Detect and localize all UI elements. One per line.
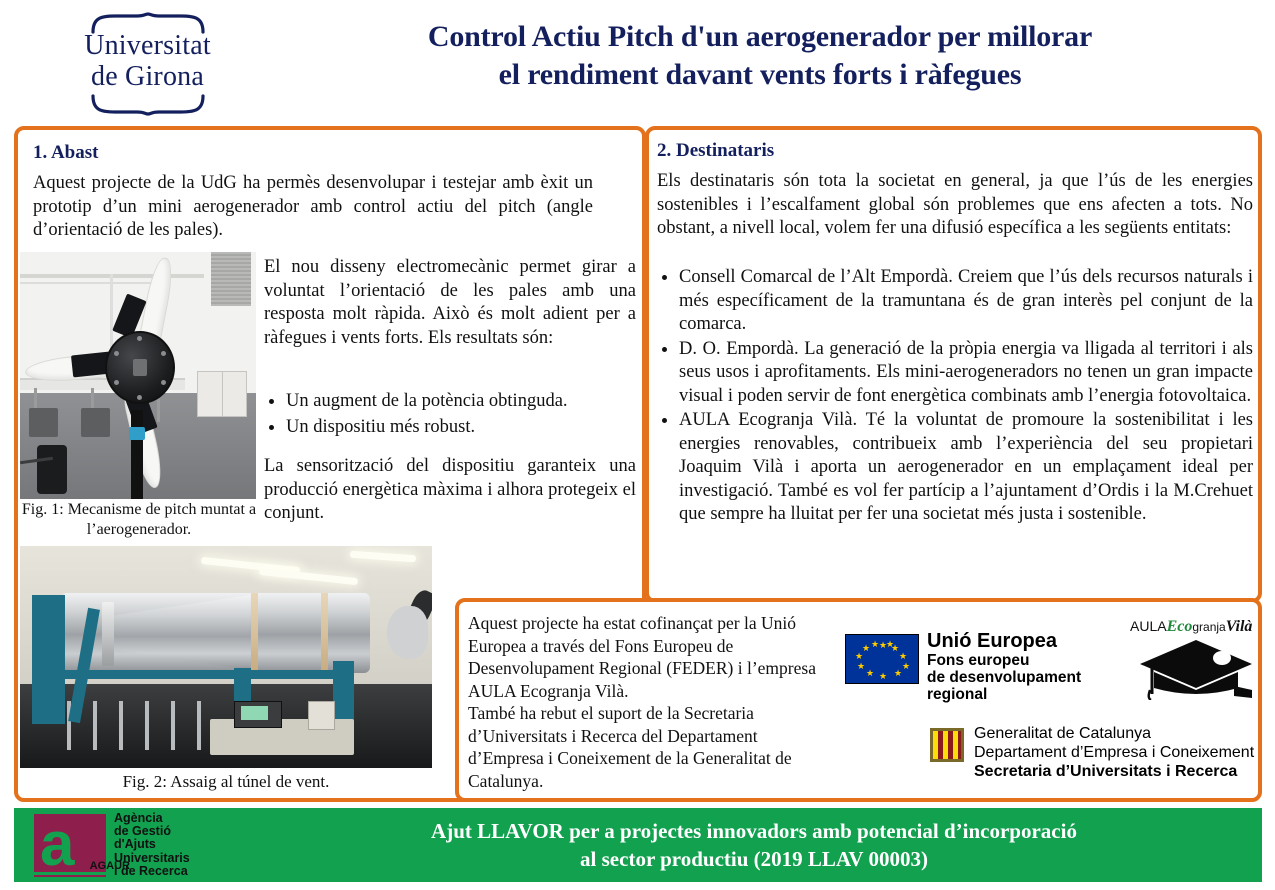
graduation-cap-icon xyxy=(1138,638,1254,700)
aula-logo-text: AULAEcogranjaVilà xyxy=(1130,618,1262,636)
agaur-logo: a AGAUR Agència de Gestió d'Ajuts Univer… xyxy=(22,812,252,878)
vila-word: Vilà xyxy=(1226,618,1253,635)
figure-2-caption: Fig. 2: Assaig al túnel de vent. xyxy=(20,772,432,792)
aula-word: AULA xyxy=(1130,618,1167,634)
generalitat-line-1: Generalitat de Catalunya xyxy=(974,724,1254,743)
funding-text: Aquest projecte ha estat cofinançat per … xyxy=(468,612,828,792)
poster-canvas: Universitat de Girona Control Actiu Pitc… xyxy=(0,0,1275,890)
catalonia-shield-icon xyxy=(930,728,964,762)
title-line-2: el rendiment davant vents forts i ràfegu… xyxy=(270,56,1250,94)
eco-word: Eco xyxy=(1167,618,1193,635)
brace-bottom-icon xyxy=(89,94,207,116)
page-title: Control Actiu Pitch d'un aerogenerador p… xyxy=(270,18,1250,94)
destinataris-paragraph-1: Els destinataris són tota la societat en… xyxy=(657,170,1253,241)
list-item: AULA Ecogranja Vilà. Té la voluntat de p… xyxy=(657,409,1253,527)
abast-paragraph-2: El nou disseny electromecànic permet gir… xyxy=(264,256,636,350)
list-item: Un augment de la potència obtinguda. xyxy=(264,390,636,414)
section-heading-destinataris: 2. Destinataris xyxy=(657,140,774,162)
generalitat-line-3: Secretaria d’Universitats i Recerca xyxy=(974,762,1254,781)
figure-1-caption: Fig. 1: Mecanisme de pitch muntat a l’ae… xyxy=(20,500,258,540)
funding-paragraph-2: També ha rebut el suport de la Secretari… xyxy=(468,702,828,792)
list-item: D. O. Empordà. La generació de la pròpia… xyxy=(657,338,1253,409)
eu-line-2: Fons europeu xyxy=(927,652,1135,669)
eu-logo: ★ ★ ★ ★ ★ ★ ★ ★ ★ ★ ★ ★ Unió Europea Fon… xyxy=(845,630,1135,688)
funding-paragraph-1: Aquest projecte ha estat cofinançat per … xyxy=(468,612,828,702)
generalitat-logo-text: Generalitat de Catalunya Departament d’E… xyxy=(974,724,1254,781)
udg-line-1: Universitat xyxy=(30,30,265,61)
destinataris-bullet-list: Consell Comarcal de l’Alt Empordà. Creie… xyxy=(657,266,1253,528)
agaur-full-name: Agència de Gestió d'Ajuts Universitaris … xyxy=(114,812,254,878)
list-item: Consell Comarcal de l’Alt Empordà. Creie… xyxy=(657,266,1253,337)
udg-line-2: de Girona xyxy=(30,61,265,92)
generalitat-line-2: Departament d’Empresa i Coneixement xyxy=(974,743,1254,762)
abast-bullet-list: Un augment de la potència obtinguda. Un … xyxy=(264,390,636,441)
poster-header: Universitat de Girona Control Actiu Pitc… xyxy=(0,0,1275,122)
udg-logo-text: Universitat de Girona xyxy=(30,30,265,92)
abast-paragraph-3: La sensorització del dispositiu garantei… xyxy=(264,455,636,526)
banner-line-1: Ajut LLAVOR per a projectes innovadors a… xyxy=(264,817,1244,845)
agaur-rule xyxy=(34,875,106,877)
banner-text: Ajut LLAVOR per a projectes innovadors a… xyxy=(264,817,1244,873)
udg-logo: Universitat de Girona xyxy=(30,8,265,116)
aula-ecogranja-vila-logo: AULAEcogranjaVilà xyxy=(1130,618,1262,706)
figure-1-image xyxy=(20,252,256,499)
figure-2-image xyxy=(20,546,432,768)
funding-banner: a AGAUR Agència de Gestió d'Ajuts Univer… xyxy=(14,808,1262,882)
eu-flag-icon: ★ ★ ★ ★ ★ ★ ★ ★ ★ ★ ★ ★ xyxy=(845,634,919,684)
list-item: Un dispositiu més robust. xyxy=(264,416,636,440)
eu-line-1: Unió Europea xyxy=(927,630,1135,652)
granja-word: granja xyxy=(1192,620,1225,634)
eu-logo-text: Unió Europea Fons europeu de desenvolupa… xyxy=(927,630,1135,703)
abast-paragraph-1: Aquest projecte de la UdG ha permès dese… xyxy=(33,172,593,243)
eu-line-3: de desenvolupament regional xyxy=(927,669,1135,703)
section-heading-abast: 1. Abast xyxy=(33,142,98,164)
banner-line-2: al sector productiu (2019 LLAV 00003) xyxy=(264,845,1244,873)
generalitat-logo: Generalitat de Catalunya Departament d’E… xyxy=(930,726,1260,784)
title-line-1: Control Actiu Pitch d'un aerogenerador p… xyxy=(270,18,1250,56)
